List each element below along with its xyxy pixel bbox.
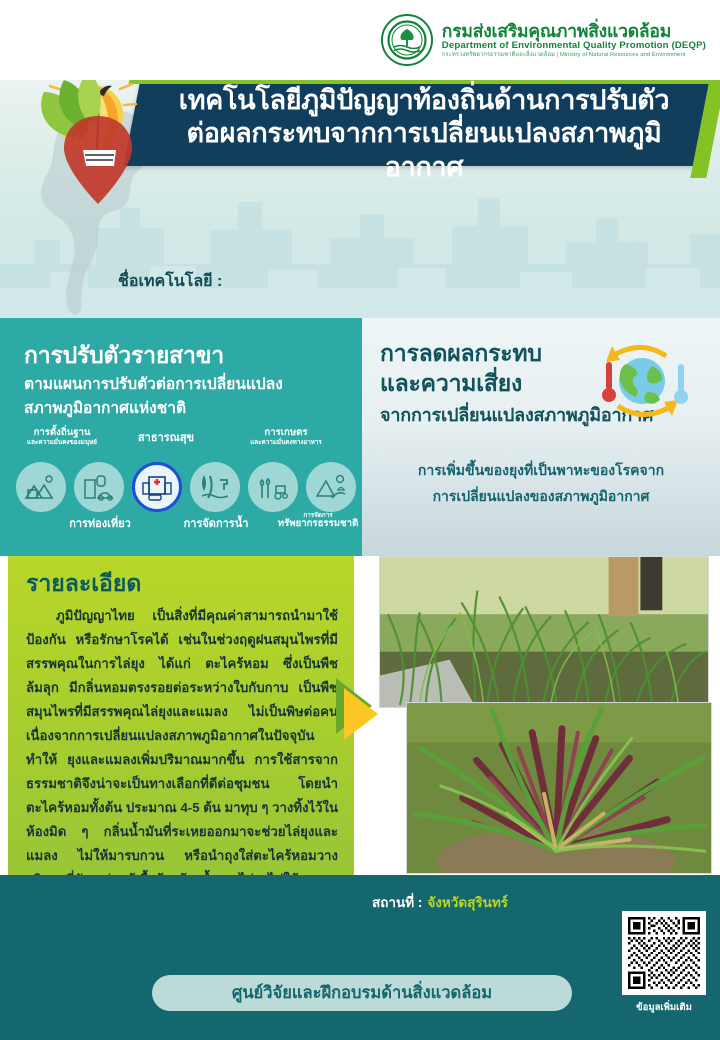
sector-label-water-management: การจัดการน้ำ [166, 518, 266, 530]
mitigation-body-line1: การเพิ่มขึ้นของยุงที่เป็นพาหะของโรคจาก [418, 462, 664, 478]
qr-caption: ข้อมูลเพิ่มเติม [612, 1000, 716, 1015]
mitigation-heading-line2: และความเสี่ยง [380, 366, 522, 402]
technology-label: ชื่อเทคโนโลยี : [118, 269, 222, 294]
place-line: สถานที่ :จังหวัดสุรินทร์ [372, 891, 508, 913]
poster-title-line1: เทคโนโลยีภูมิปัญญาท้องถิ่นด้านการปรับตัว [150, 84, 698, 117]
lightbulb-leaf-map-pin-icon [28, 62, 158, 229]
deqp-org-block: กรมส่งเสริมคุณภาพสิ่งแวดล้อม Department … [381, 14, 706, 66]
photo-citronella-closeup [406, 702, 712, 874]
center-name-pill[interactable]: ศูนย์วิจัยและฝึกอบรมด้านสิ่งแวดล้อม [152, 975, 572, 1011]
org-name-english: Department of Environmental Quality Prom… [442, 41, 706, 51]
adaptation-subheading-line2: สภาพภูมิอากาศแห่งชาติ [24, 400, 186, 417]
poster-title: เทคโนโลยีภูมิปัญญาท้องถิ่นด้านการปรับตัว… [150, 84, 698, 184]
adaptation-sectors-panel: การปรับตัวรายสาขา ตามแผนการปรับตัวต่อการ… [0, 318, 358, 556]
deqp-org-text: กรมส่งเสริมคุณภาพสิ่งแวดล้อม Department … [442, 22, 706, 59]
poster-footer [0, 875, 720, 1040]
place-label: สถานที่ : [372, 895, 422, 910]
mitigation-body-line2: การเปลี่ยนแปลงของสภาพภูมิอากาศ [433, 488, 650, 504]
mitigation-body: การเพิ่มขึ้นของยุงที่เป็นพาหะของโรคจาก ก… [362, 458, 720, 510]
sector-label-agriculture: การเกษตร และความมั่นคงทางอาหาร [226, 428, 346, 446]
deqp-tree-emblem-icon [381, 14, 433, 66]
sector-label-natural-resources: การจัดการ ทรัพยากรธรรมชาติ [270, 512, 358, 530]
sector-label-public-health: สาธารณสุข [116, 432, 216, 444]
adaptation-subheading-line1: ตามแผนการปรับตัวต่อการเปลี่ยนแปลง [24, 376, 283, 393]
hero-banner: เทคโนโลยีภูมิปัญญาท้องถิ่นด้านการปรับตัว… [0, 62, 720, 318]
adaptation-subheading: ตามแผนการปรับตัวต่อการเปลี่ยนแปลง สภาพภู… [24, 373, 344, 420]
sector-icon-settlement[interactable] [16, 462, 66, 512]
sector-label-tourism: การท่องเที่ยว [50, 518, 150, 530]
panels-section: การปรับตัวรายสาขา ตามแผนการปรับตัวต่อการ… [0, 318, 720, 556]
sector-icon-public-health[interactable] [132, 462, 182, 512]
sector-label-settlement: การตั้งถิ่นฐาน และความมั่นคงของมนุษย์ [10, 428, 114, 446]
sector-icon-water-management[interactable] [190, 462, 240, 512]
sector-icon-tourism[interactable] [74, 462, 124, 512]
poster-title-line2: ต่อผลกระทบจากการเปลี่ยนแปลงสภาพภูมิอากาศ [150, 117, 698, 184]
play-arrow-icon [344, 688, 378, 740]
qr-code-matrix [628, 917, 700, 989]
photo-lemongrass-field [379, 556, 709, 708]
mitigation-panel: การลดผลกระทบ และความเสี่ยง จากการเปลี่ยน… [358, 318, 720, 556]
org-name-thai: กรมส่งเสริมคุณภาพสิ่งแวดล้อม [442, 22, 706, 41]
adaptation-heading: การปรับตัวรายสาขา [24, 338, 224, 374]
detail-body: ภูมิปัญญาไทย เป็นสิ่งที่มีคุณค่าสามารถนำ… [26, 604, 338, 916]
earth-thermometer-climate-icon [586, 340, 698, 422]
lemongrass-plants-photo [380, 557, 708, 707]
poster-root: กรมส่งเสริมคุณภาพสิ่งแวดล้อม Department … [0, 0, 720, 1040]
citronella-stalks-photo [407, 703, 711, 873]
poster-header: กรมส่งเสริมคุณภาพสิ่งแวดล้อม Department … [0, 0, 720, 80]
center-name-text: ศูนย์วิจัยและฝึกอบรมด้านสิ่งแวดล้อม [232, 980, 492, 1006]
qr-code-icon[interactable] [622, 911, 706, 995]
detail-heading: รายละเอียด [26, 566, 141, 602]
sector-icon-natural-resources[interactable] [306, 462, 356, 512]
place-value: จังหวัดสุรินทร์ [427, 895, 508, 910]
sector-icon-agriculture[interactable] [248, 462, 298, 512]
org-ministry-line: กระทรวงทรัพยากรธรรมชาติและสิ่งแวดล้อม | … [442, 52, 706, 58]
sector-icon-row: การตั้งถิ่นฐาน และความมั่นคงของมนุษย์ สา… [8, 446, 358, 542]
